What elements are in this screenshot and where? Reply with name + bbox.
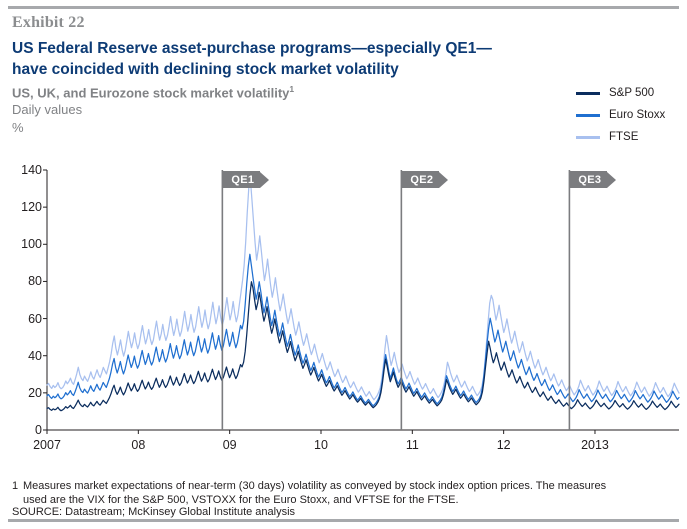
footnote-marker: 1: [12, 479, 23, 493]
y-axis-tick-label: 60: [0, 312, 42, 326]
y-axis-tick-label: 20: [0, 386, 42, 400]
y-axis-tick-label: 40: [0, 349, 42, 363]
legend-item-sp500: S&P 500: [576, 82, 665, 104]
legend-swatch-ftse: [576, 136, 600, 139]
volatility-line-chart: [0, 150, 687, 450]
qe-flag-arrow-icon: [439, 172, 448, 188]
daily-values-label: Daily values: [12, 102, 82, 117]
x-axis-tick-label: 12: [497, 438, 511, 452]
y-axis-tick-label: 80: [0, 274, 42, 288]
legend-item-ftse: FTSE: [576, 126, 665, 148]
y-axis-tick-label: 100: [0, 237, 42, 251]
legend-label-eurostoxx: Euro Stoxx: [609, 109, 665, 121]
x-axis-tick-label: 09: [223, 438, 237, 452]
legend-label-ftse: FTSE: [609, 131, 638, 143]
unit-label: %: [12, 120, 24, 135]
qe-flag-arrow-icon: [260, 172, 269, 188]
x-axis-tick-label: 2013: [581, 438, 609, 452]
footnote-line-2: used are the VIX for the S&P 500, VSTOXX…: [12, 493, 672, 507]
qe-flag-label: QE2: [410, 174, 433, 186]
page-title: US Federal Reserve asset-purchase progra…: [12, 38, 572, 80]
title-line-2: have coincided with declining stock mark…: [12, 61, 399, 78]
qe-flag-label: QE1: [231, 174, 254, 186]
top-rule: [8, 6, 679, 9]
x-axis-tick-label: 11: [406, 438, 419, 452]
qe-flag-arrow-icon: [607, 172, 616, 188]
qe-flag-qe3: QE3: [570, 171, 616, 188]
bottom-rule: [8, 519, 679, 522]
qe-flag-qe2: QE2: [402, 171, 448, 188]
legend-swatch-sp500: [576, 92, 600, 95]
chart-plot-area: 020406080100120140 200708091011122013 QE…: [0, 150, 687, 450]
x-axis-tick-labels: 200708091011122013: [0, 150, 687, 170]
exhibit-label: Exhibit 22: [12, 14, 85, 32]
qe-flag-label: QE3: [578, 174, 601, 186]
footnote-line-1: Measures market expectations of near-ter…: [23, 480, 606, 492]
title-line-1: US Federal Reserve asset-purchase progra…: [12, 40, 492, 57]
exhibit-card: Exhibit 22 US Federal Reserve asset-purc…: [0, 0, 687, 529]
chart-subtitle-footnote-marker: 1: [289, 84, 294, 94]
chart-subtitle-text: US, UK, and Eurozone stock market volati…: [12, 85, 289, 100]
legend-swatch-eurostoxx: [576, 114, 600, 117]
x-axis-tick-label: 2007: [33, 438, 61, 452]
y-axis-tick-labels: 020406080100120140: [0, 150, 42, 410]
chart-subtitle: US, UK, and Eurozone stock market volati…: [12, 84, 294, 100]
chart-legend: S&P 500 Euro Stoxx FTSE: [576, 82, 665, 148]
source-line: SOURCE: Datastream; McKinsey Global Inst…: [12, 506, 295, 518]
footnote: 1Measures market expectations of near-te…: [12, 479, 672, 507]
legend-label-sp500: S&P 500: [609, 87, 654, 99]
y-axis-tick-label: 0: [0, 423, 42, 437]
qe-flag-body: QE1: [223, 171, 260, 188]
qe-flag-qe1: QE1: [223, 171, 269, 188]
qe-flag-body: QE2: [402, 171, 439, 188]
legend-item-eurostoxx: Euro Stoxx: [576, 104, 665, 126]
y-axis-tick-label: 120: [0, 200, 42, 214]
x-axis-tick-label: 10: [314, 438, 328, 452]
qe-flag-body: QE3: [570, 171, 607, 188]
x-axis-tick-label: 08: [131, 438, 145, 452]
